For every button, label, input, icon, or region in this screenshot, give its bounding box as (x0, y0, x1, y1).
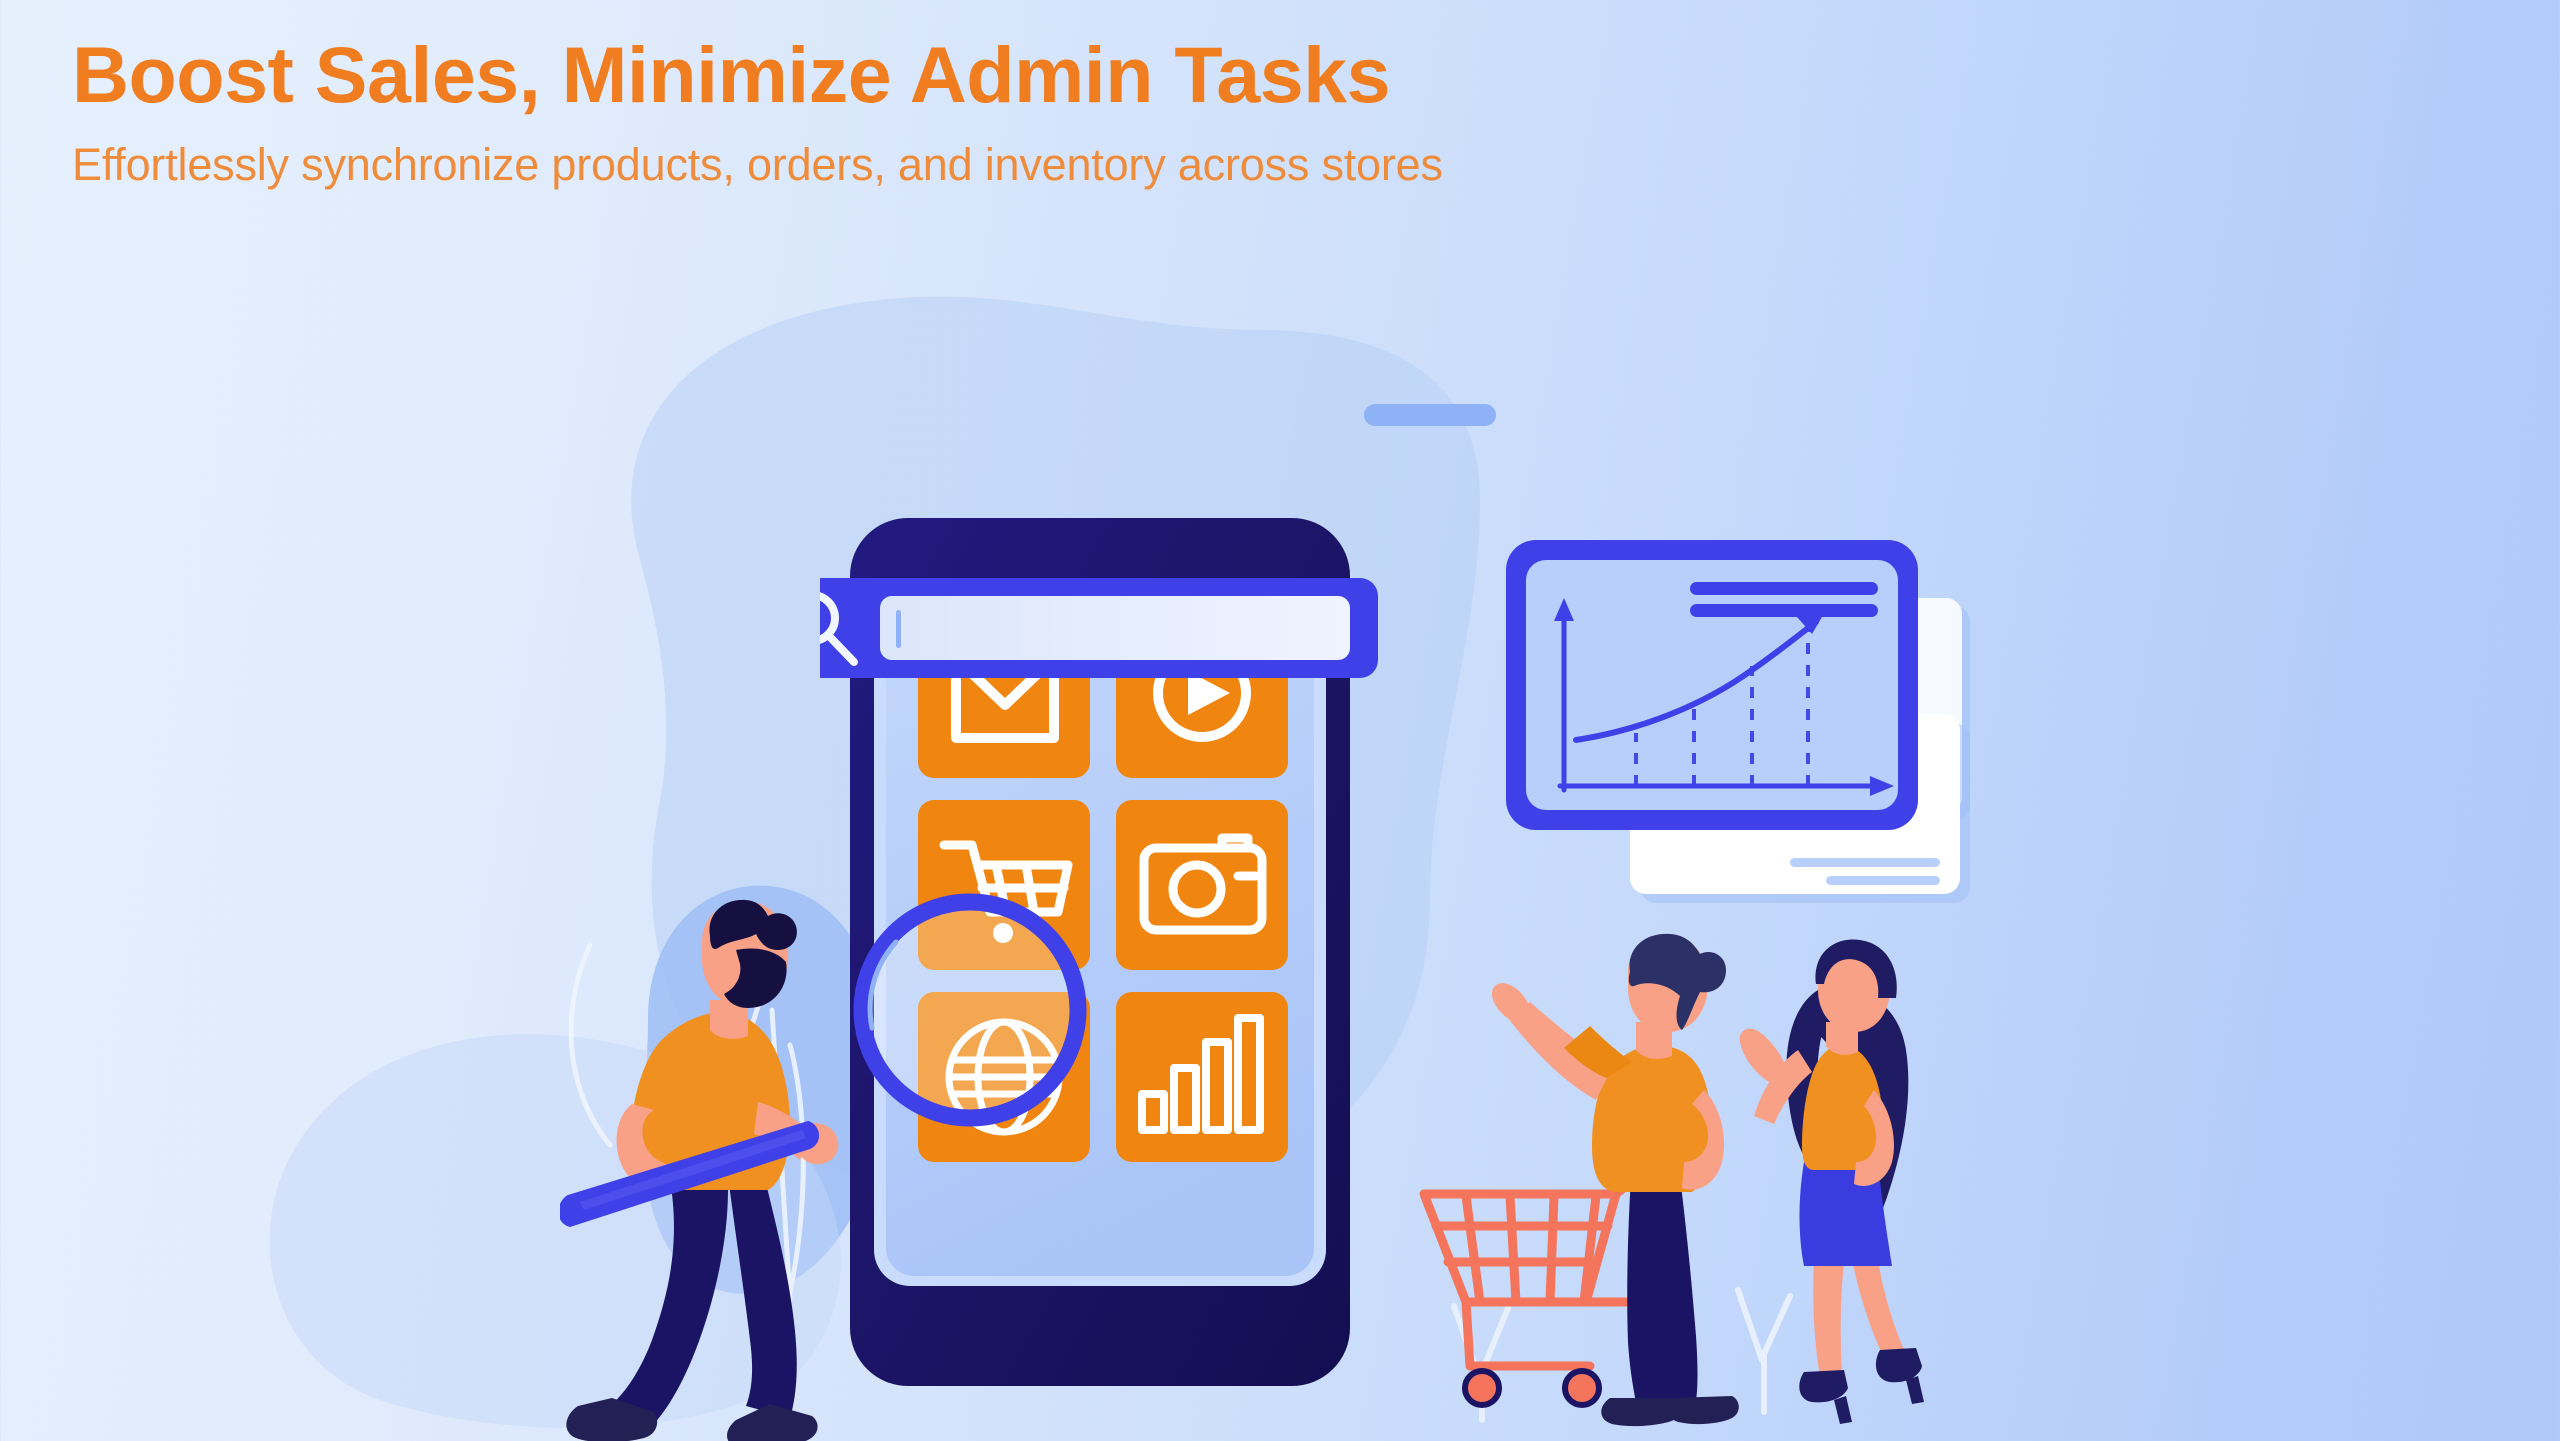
growth-chart-card (1490, 518, 2010, 938)
page-subtitle: Effortlessly synchronize products, order… (72, 139, 1443, 191)
card-text-line-1 (1690, 582, 1878, 595)
trolley-wheel-left (1465, 1371, 1499, 1405)
couple-with-trolley (1400, 930, 1960, 1441)
search-caret (896, 610, 901, 648)
tile-chart[interactable] (1116, 992, 1288, 1162)
trolley-wheel-right (1565, 1371, 1599, 1405)
woman-standing (1740, 939, 1924, 1424)
magnifying-glass-lens (840, 880, 1100, 1140)
accent-pill (1362, 398, 1502, 434)
tile-camera[interactable] (1116, 800, 1288, 970)
search-input (880, 596, 1350, 660)
man-pointing (1492, 934, 1739, 1426)
legs (610, 1174, 797, 1426)
woman-hand (1740, 1029, 1787, 1084)
search-bar[interactable] (820, 578, 1378, 678)
hero-banner: Boost Sales, Minimize Admin Tasks Effort… (0, 0, 2560, 1441)
woman-heel-right (1876, 1348, 1924, 1404)
chart-card-main (1506, 540, 1918, 830)
shopping-trolley (1424, 1176, 1638, 1405)
card-text-line-2 (1690, 604, 1878, 617)
pointing-hand (1492, 983, 1530, 1023)
hero-text-block: Boost Sales, Minimize Admin Tasks Effort… (72, 32, 1443, 191)
woman-heel-left (1799, 1370, 1852, 1424)
page-title: Boost Sales, Minimize Admin Tasks (72, 32, 1443, 117)
